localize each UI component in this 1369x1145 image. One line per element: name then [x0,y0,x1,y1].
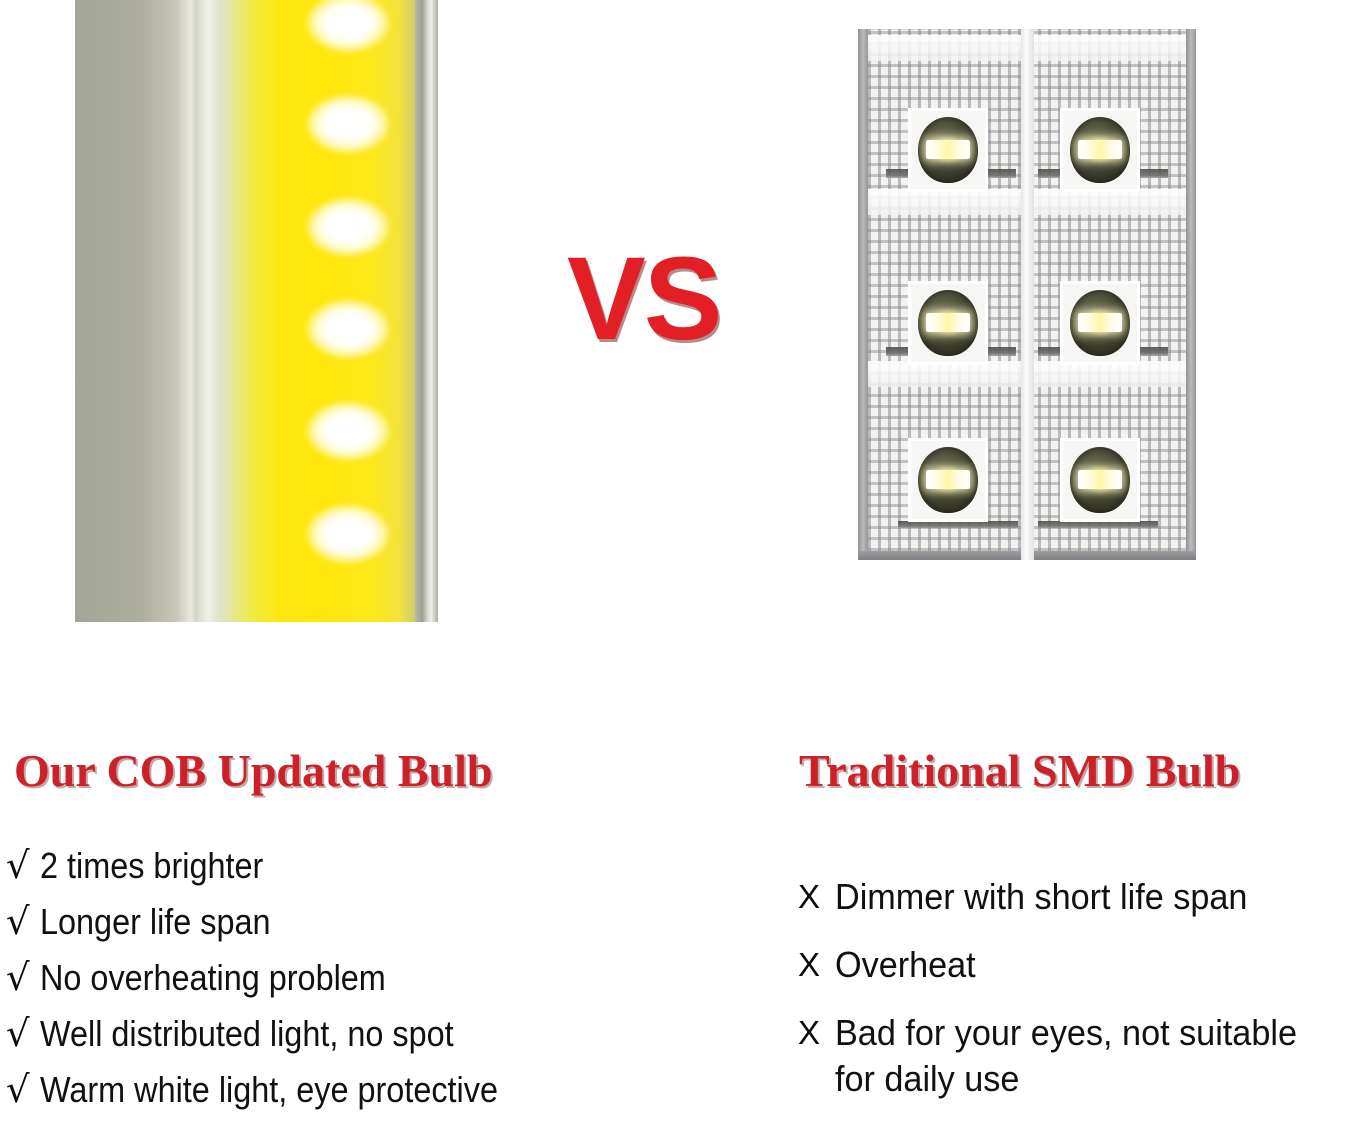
smd-board-spine [1021,29,1034,560]
list-item: X Overheat [798,942,1363,988]
list-item-label: Longer life span [40,899,639,945]
smd-led-emitter [926,313,970,332]
smd-led-emitter [1078,470,1122,489]
list-item-label: No overheating problem [40,955,639,1001]
cross-icon: X [798,874,835,920]
list-item-label: Well distributed light, no spot [40,1011,639,1057]
checkmark-icon: √ [6,843,40,889]
smd-solder-strip [1038,521,1158,528]
list-item: X Bad for your eyes, not suitable for da… [798,1010,1363,1102]
cob-led-dot [307,402,389,460]
smd-board-rail-left [858,29,868,560]
smd-feature-list: X Dimmer with short life span X Overheat… [798,874,1363,1124]
list-item: √ Warm white light, eye protective [6,1067,706,1113]
checkmark-icon: √ [6,899,40,945]
list-item-label: Warm white light, eye protective [40,1067,639,1113]
cob-led-dot [307,95,389,153]
cross-icon: X [798,942,835,988]
cob-tube-seam [415,0,438,622]
smd-led-chip [911,111,985,189]
left-column-heading: Our COB Updated Bulb [14,748,492,794]
smd-led-board-photo [858,29,1196,560]
smd-led-chip [1063,284,1137,362]
list-item-label: Overheat [835,942,1337,988]
smd-board-rail-right [1186,29,1196,560]
list-item-label: 2 times brighter [40,843,639,889]
smd-led-emitter [1078,313,1122,332]
smd-led-emitter [926,140,970,159]
versus-label: VS [567,240,720,358]
list-item: X Dimmer with short life span [798,874,1363,920]
cob-led-dot [307,198,389,256]
cob-led-dot [307,505,389,563]
smd-led-emitter [1078,140,1122,159]
list-item: √ 2 times brighter [6,843,706,889]
smd-solder-strip [898,521,1018,528]
cross-icon: X [798,1010,835,1056]
cob-led-strip-photo [75,0,438,622]
list-item: √ Longer life span [6,899,706,945]
list-item-label: Dimmer with short life span [835,874,1337,920]
cob-feature-list: √ 2 times brighter √ Longer life span √ … [6,843,706,1123]
checkmark-icon: √ [6,1011,40,1057]
smd-led-chip [911,441,985,519]
right-column-heading: Traditional SMD Bulb [799,748,1240,794]
list-item: √ Well distributed light, no spot [6,1011,706,1057]
cob-led-dot [307,300,389,358]
checkmark-icon: √ [6,1067,40,1113]
smd-led-chip [1063,111,1137,189]
cob-background-left [75,0,197,622]
comparison-infographic: VS [0,0,1369,1145]
checkmark-icon: √ [6,955,40,1001]
smd-led-chip [1063,441,1137,519]
smd-led-chip [911,284,985,362]
smd-led-emitter [926,470,970,489]
list-item-label: Bad for your eyes, not suitable for dail… [835,1010,1337,1102]
list-item: √ No overheating problem [6,955,706,1001]
